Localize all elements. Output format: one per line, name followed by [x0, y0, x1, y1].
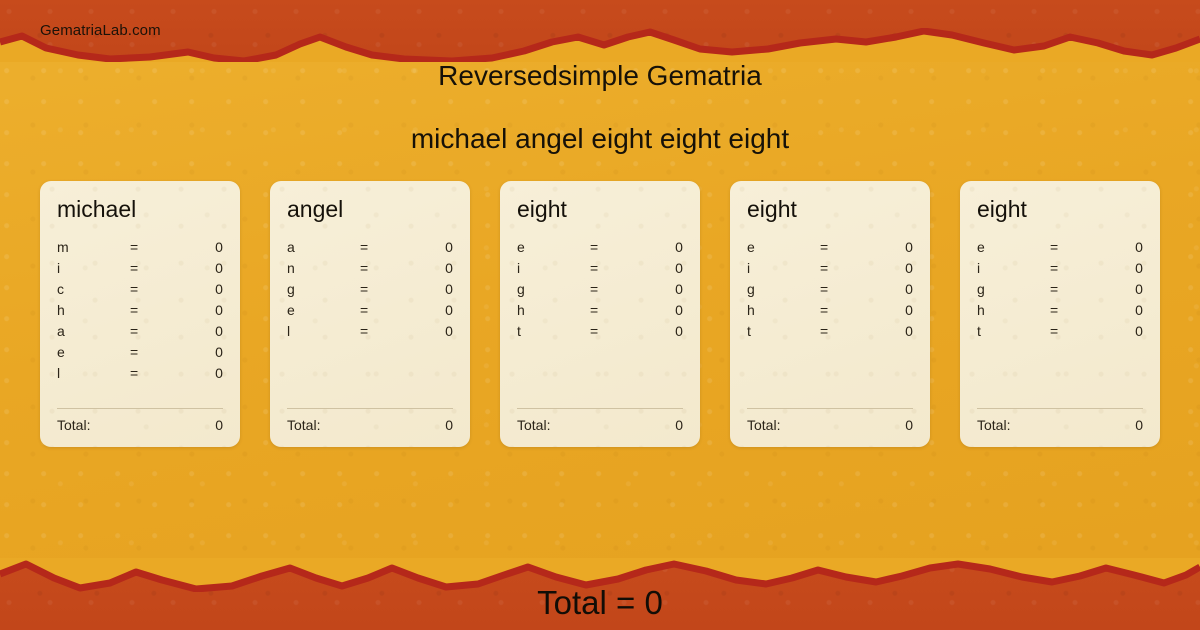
letter-row: g=0: [517, 281, 683, 302]
equals-sign: =: [130, 365, 176, 381]
letter-label: i: [517, 260, 590, 276]
equals-sign: =: [1050, 281, 1096, 297]
letter-label: g: [517, 281, 590, 297]
equals-sign: =: [590, 323, 636, 339]
letter-label: i: [747, 260, 820, 276]
letter-row: n=0: [287, 260, 453, 281]
letter-row: h=0: [57, 302, 223, 323]
letter-row: g=0: [977, 281, 1143, 302]
letter-row: t=0: [517, 323, 683, 344]
card-total-value: 0: [215, 417, 223, 433]
card-total-row: Total:0: [747, 417, 913, 433]
letter-row: e=0: [517, 239, 683, 260]
letter-label: i: [977, 260, 1050, 276]
card-total-value: 0: [675, 417, 683, 433]
letter-value: 0: [637, 281, 683, 297]
letter-rows: a=0n=0g=0e=0l=0: [287, 239, 453, 399]
letter-label: c: [57, 281, 130, 297]
card-divider: [977, 408, 1143, 409]
letter-label: a: [287, 239, 360, 255]
letter-value: 0: [177, 239, 223, 255]
equals-sign: =: [820, 260, 866, 276]
letter-value: 0: [867, 239, 913, 255]
letter-value: 0: [177, 302, 223, 318]
letter-row: t=0: [977, 323, 1143, 344]
card-total-row: Total:0: [57, 417, 223, 433]
letter-value: 0: [1097, 302, 1143, 318]
letter-value: 0: [1097, 323, 1143, 339]
card-total-row: Total:0: [977, 417, 1143, 433]
site-logo[interactable]: GematriaLab.com: [40, 22, 161, 39]
card-divider: [287, 408, 453, 409]
letter-value: 0: [637, 260, 683, 276]
card-divider: [747, 408, 913, 409]
letter-row: i=0: [517, 260, 683, 281]
word-card: eighte=0i=0g=0h=0t=0Total:0: [730, 181, 930, 447]
equals-sign: =: [590, 281, 636, 297]
letter-value: 0: [637, 323, 683, 339]
letter-value: 0: [177, 365, 223, 381]
equals-sign: =: [130, 239, 176, 255]
word-card-title: michael: [57, 197, 223, 222]
letter-label: a: [57, 323, 130, 339]
page-canvas: GematriaLab.com Reversedsimple Gematria …: [0, 0, 1200, 630]
word-card-title: eight: [977, 197, 1143, 222]
letter-value: 0: [407, 281, 453, 297]
letter-rows: e=0i=0g=0h=0t=0: [747, 239, 913, 399]
card-total-label: Total:: [287, 417, 320, 433]
letter-row: m=0: [57, 239, 223, 260]
card-total-label: Total:: [977, 417, 1010, 433]
letter-label: g: [747, 281, 820, 297]
word-card: michaelm=0i=0c=0h=0a=0e=0l=0Total:0: [40, 181, 240, 447]
letter-row: a=0: [57, 323, 223, 344]
equals-sign: =: [590, 239, 636, 255]
letter-label: e: [977, 239, 1050, 255]
equals-sign: =: [360, 281, 406, 297]
letter-label: n: [287, 260, 360, 276]
letter-value: 0: [1097, 239, 1143, 255]
equals-sign: =: [1050, 302, 1096, 318]
top-decorative-band: [0, 0, 1200, 62]
equals-sign: =: [360, 239, 406, 255]
letter-value: 0: [407, 302, 453, 318]
equals-sign: =: [360, 323, 406, 339]
word-card: eighte=0i=0g=0h=0t=0Total:0: [960, 181, 1160, 447]
equals-sign: =: [1050, 323, 1096, 339]
letter-row: g=0: [287, 281, 453, 302]
letter-label: i: [57, 260, 130, 276]
letter-label: t: [747, 323, 820, 339]
letter-value: 0: [177, 323, 223, 339]
card-total-label: Total:: [57, 417, 90, 433]
letter-label: t: [517, 323, 590, 339]
card-total-value: 0: [905, 417, 913, 433]
equals-sign: =: [360, 302, 406, 318]
letter-label: h: [977, 302, 1050, 318]
letter-value: 0: [867, 281, 913, 297]
letter-value: 0: [407, 239, 453, 255]
letter-row: l=0: [57, 365, 223, 386]
letter-value: 0: [1097, 260, 1143, 276]
letter-label: l: [57, 365, 130, 381]
letter-row: e=0: [57, 344, 223, 365]
letter-label: m: [57, 239, 130, 255]
letter-value: 0: [867, 302, 913, 318]
letter-value: 0: [867, 323, 913, 339]
phrase-subtitle: michael angel eight eight eight: [0, 123, 1200, 155]
letter-label: g: [287, 281, 360, 297]
letter-label: h: [57, 302, 130, 318]
equals-sign: =: [130, 281, 176, 297]
card-divider: [517, 408, 683, 409]
letter-value: 0: [867, 260, 913, 276]
letter-value: 0: [407, 323, 453, 339]
equals-sign: =: [360, 260, 406, 276]
letter-label: e: [57, 344, 130, 360]
letter-value: 0: [177, 344, 223, 360]
equals-sign: =: [820, 239, 866, 255]
letter-row: e=0: [287, 302, 453, 323]
letter-label: g: [977, 281, 1050, 297]
equals-sign: =: [130, 344, 176, 360]
letter-row: i=0: [57, 260, 223, 281]
letter-row: l=0: [287, 323, 453, 344]
card-total-label: Total:: [747, 417, 780, 433]
equals-sign: =: [590, 260, 636, 276]
word-card-title: eight: [747, 197, 913, 222]
letter-label: h: [747, 302, 820, 318]
page-title: Reversedsimple Gematria: [0, 60, 1200, 92]
card-total-value: 0: [1135, 417, 1143, 433]
letter-rows: e=0i=0g=0h=0t=0: [977, 239, 1143, 399]
letter-row: i=0: [977, 260, 1143, 281]
letter-value: 0: [1097, 281, 1143, 297]
card-total-row: Total:0: [287, 417, 453, 433]
equals-sign: =: [820, 281, 866, 297]
equals-sign: =: [1050, 260, 1096, 276]
equals-sign: =: [590, 302, 636, 318]
letter-value: 0: [177, 260, 223, 276]
word-cards-container: michaelm=0i=0c=0h=0a=0e=0l=0Total:0angel…: [40, 181, 1160, 447]
equals-sign: =: [130, 260, 176, 276]
letter-label: e: [517, 239, 590, 255]
equals-sign: =: [1050, 239, 1096, 255]
equals-sign: =: [820, 302, 866, 318]
word-card: angela=0n=0g=0e=0l=0Total:0: [270, 181, 470, 447]
card-total-value: 0: [445, 417, 453, 433]
letter-row: e=0: [747, 239, 913, 260]
letter-label: t: [977, 323, 1050, 339]
letter-row: i=0: [747, 260, 913, 281]
top-wave-divider: [0, 28, 1200, 62]
word-card-title: angel: [287, 197, 453, 222]
card-total-row: Total:0: [517, 417, 683, 433]
letter-value: 0: [637, 239, 683, 255]
letter-value: 0: [407, 260, 453, 276]
letter-row: t=0: [747, 323, 913, 344]
letter-label: e: [747, 239, 820, 255]
letter-rows: e=0i=0g=0h=0t=0: [517, 239, 683, 399]
letter-label: l: [287, 323, 360, 339]
letter-row: h=0: [747, 302, 913, 323]
equals-sign: =: [130, 323, 176, 339]
letter-row: h=0: [517, 302, 683, 323]
equals-sign: =: [130, 302, 176, 318]
footer-grand-total: Total = 0: [0, 584, 1200, 622]
word-card-title: eight: [517, 197, 683, 222]
letter-rows: m=0i=0c=0h=0a=0e=0l=0: [57, 239, 223, 399]
letter-row: a=0: [287, 239, 453, 260]
card-total-label: Total:: [517, 417, 550, 433]
letter-row: c=0: [57, 281, 223, 302]
letter-row: e=0: [977, 239, 1143, 260]
letter-row: h=0: [977, 302, 1143, 323]
letter-value: 0: [637, 302, 683, 318]
card-divider: [57, 408, 223, 409]
word-card: eighte=0i=0g=0h=0t=0Total:0: [500, 181, 700, 447]
letter-value: 0: [177, 281, 223, 297]
letter-label: e: [287, 302, 360, 318]
letter-row: g=0: [747, 281, 913, 302]
letter-label: h: [517, 302, 590, 318]
equals-sign: =: [820, 323, 866, 339]
